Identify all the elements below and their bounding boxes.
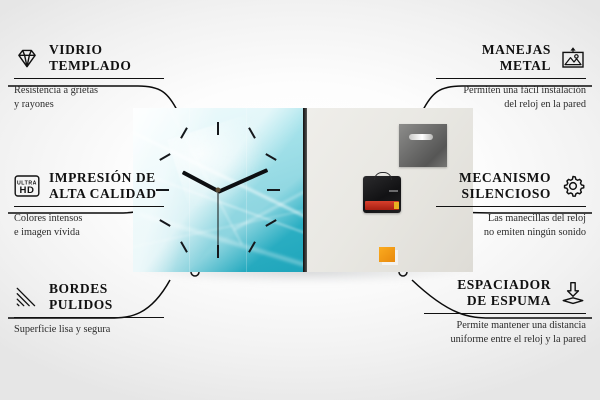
clock-tick-7 <box>180 241 188 252</box>
callout-desc-line2: e imagen vívida <box>14 226 164 240</box>
foam-spacer-pad <box>379 247 395 262</box>
callout-title-line1: BORDES <box>49 281 113 297</box>
clock-center-pin <box>216 188 221 193</box>
battery-terminal <box>394 202 399 209</box>
infographic-canvas: VIDRIO TEMPLADO Resistencia a grietas y … <box>0 0 600 400</box>
mechanism-detail <box>389 190 398 192</box>
feather-plume <box>167 112 279 215</box>
ultra-hd-icon: ultra HD <box>14 173 40 199</box>
callout-title: BORDES PULIDOS <box>14 281 164 313</box>
callout-title: ultra HD IMPRESIÓN DE ALTA CALIDAD <box>14 170 164 202</box>
callout-rule <box>436 78 586 79</box>
clock-tick-12 <box>217 122 219 135</box>
callout-rule <box>14 206 164 207</box>
callout-title-line1: VIDRIO <box>49 42 131 58</box>
callout-metal-handles: MANEJAS METAL Permiten una fácil instala… <box>436 42 586 112</box>
callout-rule <box>424 313 586 314</box>
callout-silent-mechanism: MECANISMO SILENCIOSO Las manecillas del … <box>436 170 586 240</box>
callout-title-line2: PULIDOS <box>49 297 113 313</box>
callout-title-line1: MANEJAS <box>482 42 551 58</box>
callout-title-line1: IMPRESIÓN DE <box>49 170 157 186</box>
callout-foam-spacer: ESPACIADOR DE ESPUMA Permite mantener un… <box>424 277 586 347</box>
panel-seam <box>246 108 247 272</box>
diamond-icon <box>14 45 40 71</box>
ultra-hd-icon-main: HD <box>20 185 35 196</box>
callout-title-line2: SILENCIOSO <box>461 186 551 202</box>
clock-second-hand <box>218 191 219 249</box>
callout-desc-line1: Superficie lisa y segura <box>14 323 164 337</box>
callout-desc-line2: del reloj en la pared <box>436 98 586 112</box>
panel-seam <box>189 108 190 272</box>
callout-title: VIDRIO TEMPLADO <box>14 42 164 74</box>
clock-tick-3 <box>267 189 280 191</box>
callout-title-line2: METAL <box>500 58 551 74</box>
hanger-slot <box>409 134 433 140</box>
product-image <box>133 108 473 272</box>
callout-title: MANEJAS METAL <box>436 42 586 74</box>
callout-desc-line2: uniforme entre el reloj y la pared <box>424 333 586 347</box>
press-down-pad-icon <box>560 280 586 306</box>
callout-rule <box>14 78 164 79</box>
callout-desc-line1: Las manecillas del reloj <box>436 212 586 226</box>
callout-high-quality-print: ultra HD IMPRESIÓN DE ALTA CALIDAD Color… <box>14 170 164 240</box>
clock-tick-10 <box>159 153 170 161</box>
clock-mechanism <box>363 176 401 213</box>
picture-frame-hanger-icon <box>560 45 586 71</box>
callout-title-line1: MECANISMO <box>459 170 551 186</box>
callout-title-line2: DE ESPUMA <box>467 293 551 309</box>
callout-tempered-glass: VIDRIO TEMPLADO Resistencia a grietas y … <box>14 42 164 112</box>
callout-desc-line1: Colores intensos <box>14 212 164 226</box>
polished-edges-icon <box>14 284 40 310</box>
callout-title-line1: ESPACIADOR <box>457 277 551 293</box>
callout-rule <box>436 206 586 207</box>
callout-desc-line1: Permiten una fácil instalación <box>436 84 586 98</box>
callout-desc-line2: y rayones <box>14 98 164 112</box>
metal-hanger-plate <box>399 124 447 167</box>
callout-title-line2: ALTA CALIDAD <box>49 186 157 202</box>
callout-title: ESPACIADOR DE ESPUMA <box>424 277 586 309</box>
callout-desc-line2: no emiten ningún sonido <box>436 226 586 240</box>
callout-desc-line1: Permite mantener una distancia <box>424 319 586 333</box>
gear-icon <box>560 173 586 199</box>
callout-title: MECANISMO SILENCIOSO <box>436 170 586 202</box>
callout-polished-edges: BORDES PULIDOS Superficie lisa y segura <box>14 281 164 337</box>
callout-title-line2: TEMPLADO <box>49 58 131 74</box>
mechanism-loop <box>374 172 392 180</box>
callout-desc-line1: Resistencia a grietas <box>14 84 164 98</box>
callout-rule <box>14 317 164 318</box>
